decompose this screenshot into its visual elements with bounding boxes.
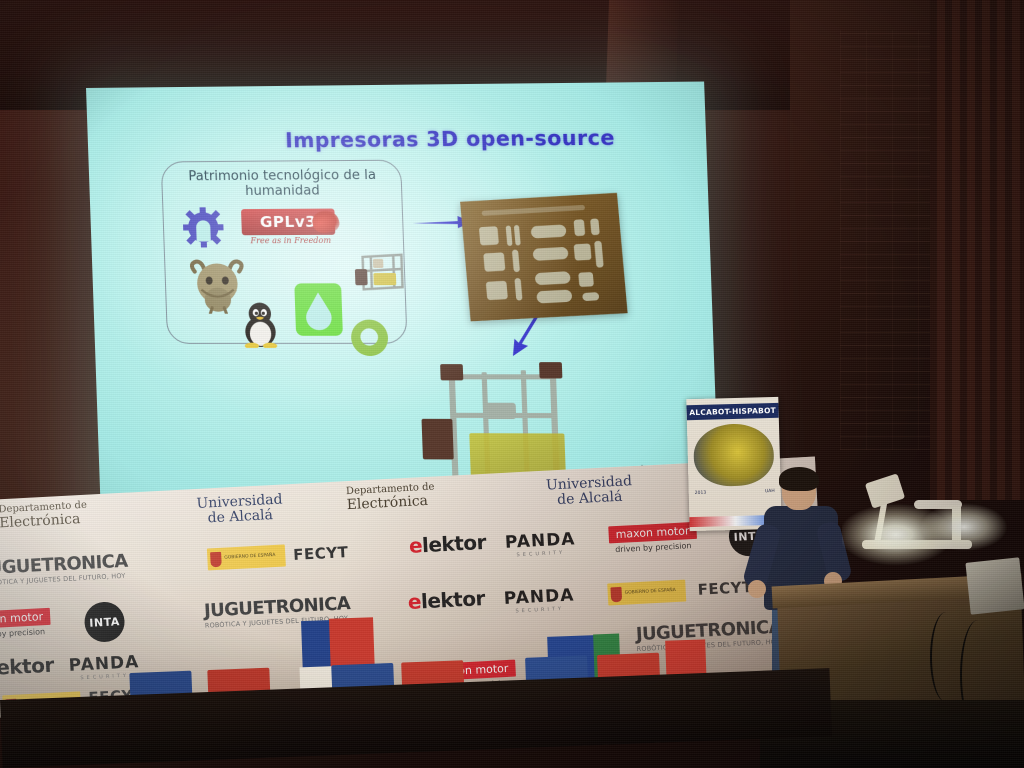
sponsor-universidad-alcala-2: Universidadde Alcalá	[546, 474, 634, 508]
sponsor-universidad-alcala: Universidadde Alcalá	[196, 492, 284, 526]
sponsor-maxon-motor: maxon motordriven by precision	[608, 521, 697, 555]
sponsor-gobierno-espana-2: GOBIERNO DE ESPAÑA	[607, 580, 686, 606]
slide-group-caption: Patrimonio tecnológico de la humanidad	[173, 168, 392, 200]
gobierno-shield-icon	[210, 551, 222, 567]
lamp-head	[865, 473, 905, 508]
sponsor-maxon-motor-2: maxon motordriven by precision	[0, 607, 51, 641]
reprap-machine-logo	[352, 245, 413, 298]
power-cable-1	[930, 612, 962, 702]
sponsor-gobierno-espana: GOBIERNO DE ESPAÑA	[207, 544, 286, 570]
slide-title: Impresoras 3D open-source	[285, 124, 719, 152]
gobierno-shield-icon-2	[610, 586, 622, 602]
presenter-hair	[779, 467, 819, 491]
sponsor-panda-2: PANDASECURITY	[503, 585, 575, 615]
sponsor-departamento-electronica: Departamento deElectrónica	[0, 501, 88, 531]
sponsor-panda: PANDASECURITY	[504, 529, 576, 559]
overhead-projector-lamp	[852, 478, 992, 608]
gplv3-logo: GPLv3 Free as in Freedom	[241, 209, 336, 250]
sponsor-departamento-electronica-2: Departamento deElectrónica	[346, 483, 436, 513]
gobierno-text: GOBIERNO DE ESPAÑA	[224, 553, 275, 562]
poster-left-text: 2013	[695, 491, 707, 496]
sponsor-juguetronica: JUGUETRONICAROBÓTICA Y JUGUETES DEL FUTU…	[0, 551, 129, 588]
arduino-green-logo	[294, 283, 343, 336]
reprap-gear-logo	[182, 207, 224, 247]
sponsor-fecyt: FECYT	[293, 543, 349, 565]
gobierno-text-2: GOBIERNO DE ESPAÑA	[625, 588, 676, 597]
lamp-top-arm	[914, 500, 962, 509]
presenter-left-hand	[748, 580, 766, 598]
tux-penguin-logo	[240, 300, 280, 348]
lamp-glare	[842, 484, 992, 576]
poster-title: ALCABOT-HISPABOT	[686, 403, 778, 420]
sponsor-elektor-2: elektor	[407, 586, 485, 614]
stage-curtain	[930, 0, 1024, 500]
photo-scene: Impresoras 3D open-source Patrimonio tec…	[0, 0, 1024, 768]
printed-parts-photo	[460, 193, 628, 322]
open-source-initiative-logo	[348, 318, 390, 358]
gplv3-tagline: Free as in Freedom	[244, 236, 338, 245]
sponsor-elektor: eelektorlektor	[408, 530, 486, 558]
